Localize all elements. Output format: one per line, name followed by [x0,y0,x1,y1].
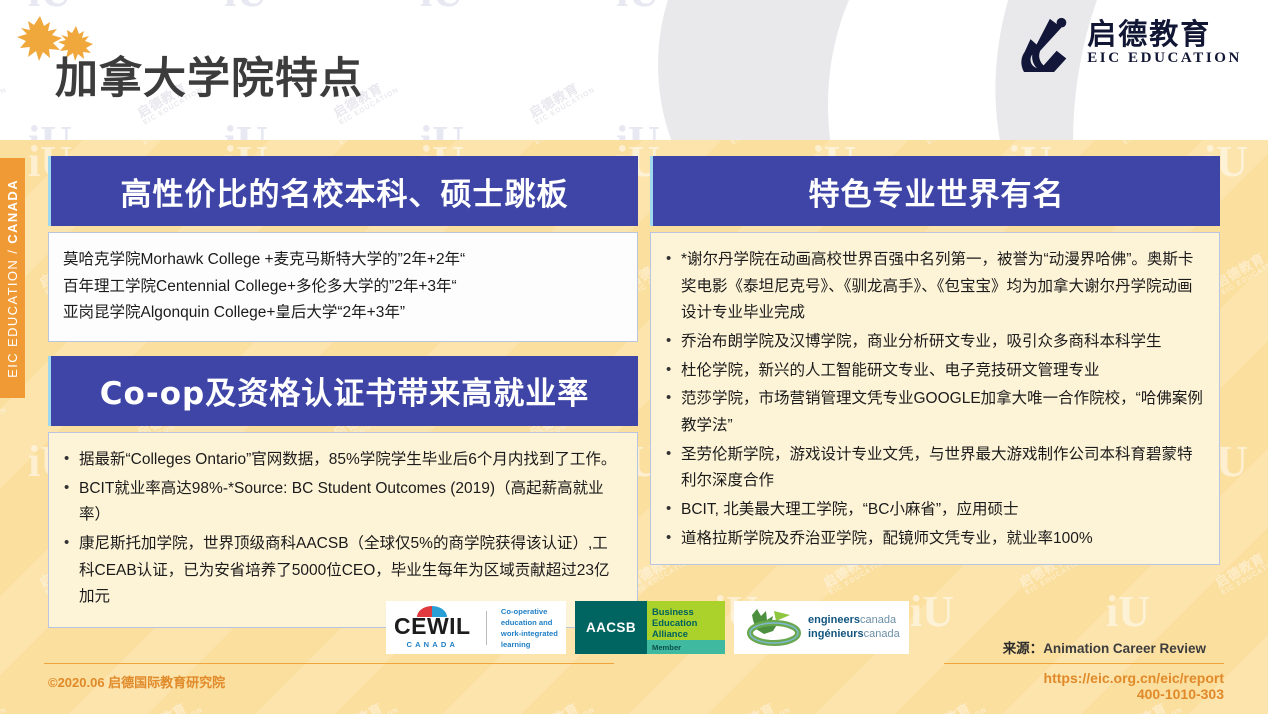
aacsb-word: AACSB [575,601,647,654]
cewil-logo: CEWIL CANADA Co-operative education and … [386,601,566,654]
engineers-canada-mark-icon [742,607,802,649]
aacsb-logo: AACSB Business Education Alliance Member [575,601,725,654]
page-title: 加拿大学院特点 [55,44,363,106]
plain-line: 亚岗昆学院Algonquin College+皇后大学“2年+3年” [63,300,621,327]
side-tab-prefix: EIC EDUCATION / [5,243,20,377]
partner-logo-row: CEWIL CANADA Co-operative education and … [386,601,909,654]
report-url[interactable]: https://eic.org.cn/eic/report [1044,670,1224,686]
right-band-title: 特色专业世界有名 [650,156,1220,226]
left-bottom-body: 据最新“Colleges Ontario”官网数据，85%学院学生毕业后6个月内… [48,432,638,628]
left-column: 高性价比的名校本科、硕士跳板 莫哈克学院Morhawk College +麦克马… [48,156,638,628]
cewil-desc: Co-operative education and work-integrat… [501,606,558,650]
page-header: 启德教育EIC EDUCATIONiU启德教育EIC EDUCATIONiU启德… [0,0,1268,140]
phone-number: 400-1010-303 [1044,686,1224,702]
list-item: 范莎学院，市场营销管理文凭专业GOOGLE加拿大唯一合作院校，“哈佛案例教学法” [665,386,1203,439]
brand-logo: 启德教育 EIC EDUCATION [1017,14,1242,72]
left-top-band-title: 高性价比的名校本科、硕士跳板 [48,156,638,226]
list-item: 据最新“Colleges Ontario”官网数据，85%学院学生毕业后6个月内… [63,447,621,474]
plain-line: 百年理工学院Centennial College+多伦多大学的”2年+3年“ [63,274,621,301]
footer-rule-right [944,663,1224,664]
side-tab-emphasis: CANADA [5,179,20,244]
source-value: Animation Career Review [1043,641,1206,656]
right-body: *谢尔丹学院在动画高校世界百强中名列第一，被誉为“动漫界哈佛”。奥斯卡奖电影《泰… [650,232,1220,565]
aacsb-alliance-text: Business Education Alliance [647,601,725,640]
right-column: 特色专业世界有名 *谢尔丹学院在动画高校世界百强中名列第一，被誉为“动漫界哈佛”… [650,156,1220,565]
plain-line: 莫哈克学院Morhawk College +麦克马斯特大学的”2年+2年“ [63,247,621,274]
left-bottom-band-title: Co-op及资格认证书带来高就业率 [48,356,638,426]
aacsb-line3: Alliance [652,628,725,639]
logo-cn-text: 启德教育 [1087,19,1211,49]
source-note: 来源：Animation Career Review [1003,637,1206,657]
eng-line2-bold: ingénieurs [808,628,864,640]
list-item: 康尼斯托加学院，世界顶级商科AACSB（全球仅5%的商学院获得该认证）,工科CE… [63,531,621,611]
engineers-canada-logo: engineerscanada ingénieurscanada [734,601,909,654]
list-item: 道格拉斯学院及乔治亚学院，配镜师文凭专业，就业率100% [665,526,1203,553]
list-item: BCIT, 北美最大理工学院，“BC小麻省”，应用硕士 [665,497,1203,524]
aacsb-line1: Business [652,606,725,617]
eng-line2-light: canada [864,628,900,640]
source-label: 来源： [1003,641,1044,656]
list-item: 杜伦学院，新兴的人工智能研文专业、电子竞技研文管理专业 [665,358,1203,385]
left-top-body: 莫哈克学院Morhawk College +麦克马斯特大学的”2年+2年“ 百年… [48,232,638,342]
aacsb-line2: Education [652,617,725,628]
footer-rule-left [44,663,614,664]
side-tab-canada: EIC EDUCATION / CANADA [0,158,25,398]
list-item: 乔治布朗学院及汉博学院，商业分析研文专业，吸引众多商科本科学生 [665,329,1203,356]
cewil-sub: CANADA [406,640,458,649]
list-item: BCIT就业率高达98%-*Source: BC Student Outcome… [63,476,621,529]
contact-block: https://eic.org.cn/eic/report 400-1010-3… [1044,670,1224,702]
copyright-text: ©2020.06 启德国际教育研究院 [48,672,225,691]
eng-line1-bold: engineers [808,614,860,626]
list-item: 圣劳伦斯学院，游戏设计专业文凭，与世界最大游戏制作公司本科育碧蒙特利尔深度合作 [665,442,1203,495]
cewil-word: CEWIL [394,615,471,638]
engineers-canada-wordmark: engineerscanada ingénieurscanada [808,614,900,642]
list-item: *谢尔丹学院在动画高校世界百强中名列第一，被誉为“动漫界哈佛”。奥斯卡奖电影《泰… [665,247,1203,327]
eic-logo-icon [1017,14,1075,72]
aacsb-member-badge: Member [647,640,725,654]
eng-line1-light: canada [860,614,896,626]
logo-en-text: EIC EDUCATION [1087,50,1242,67]
